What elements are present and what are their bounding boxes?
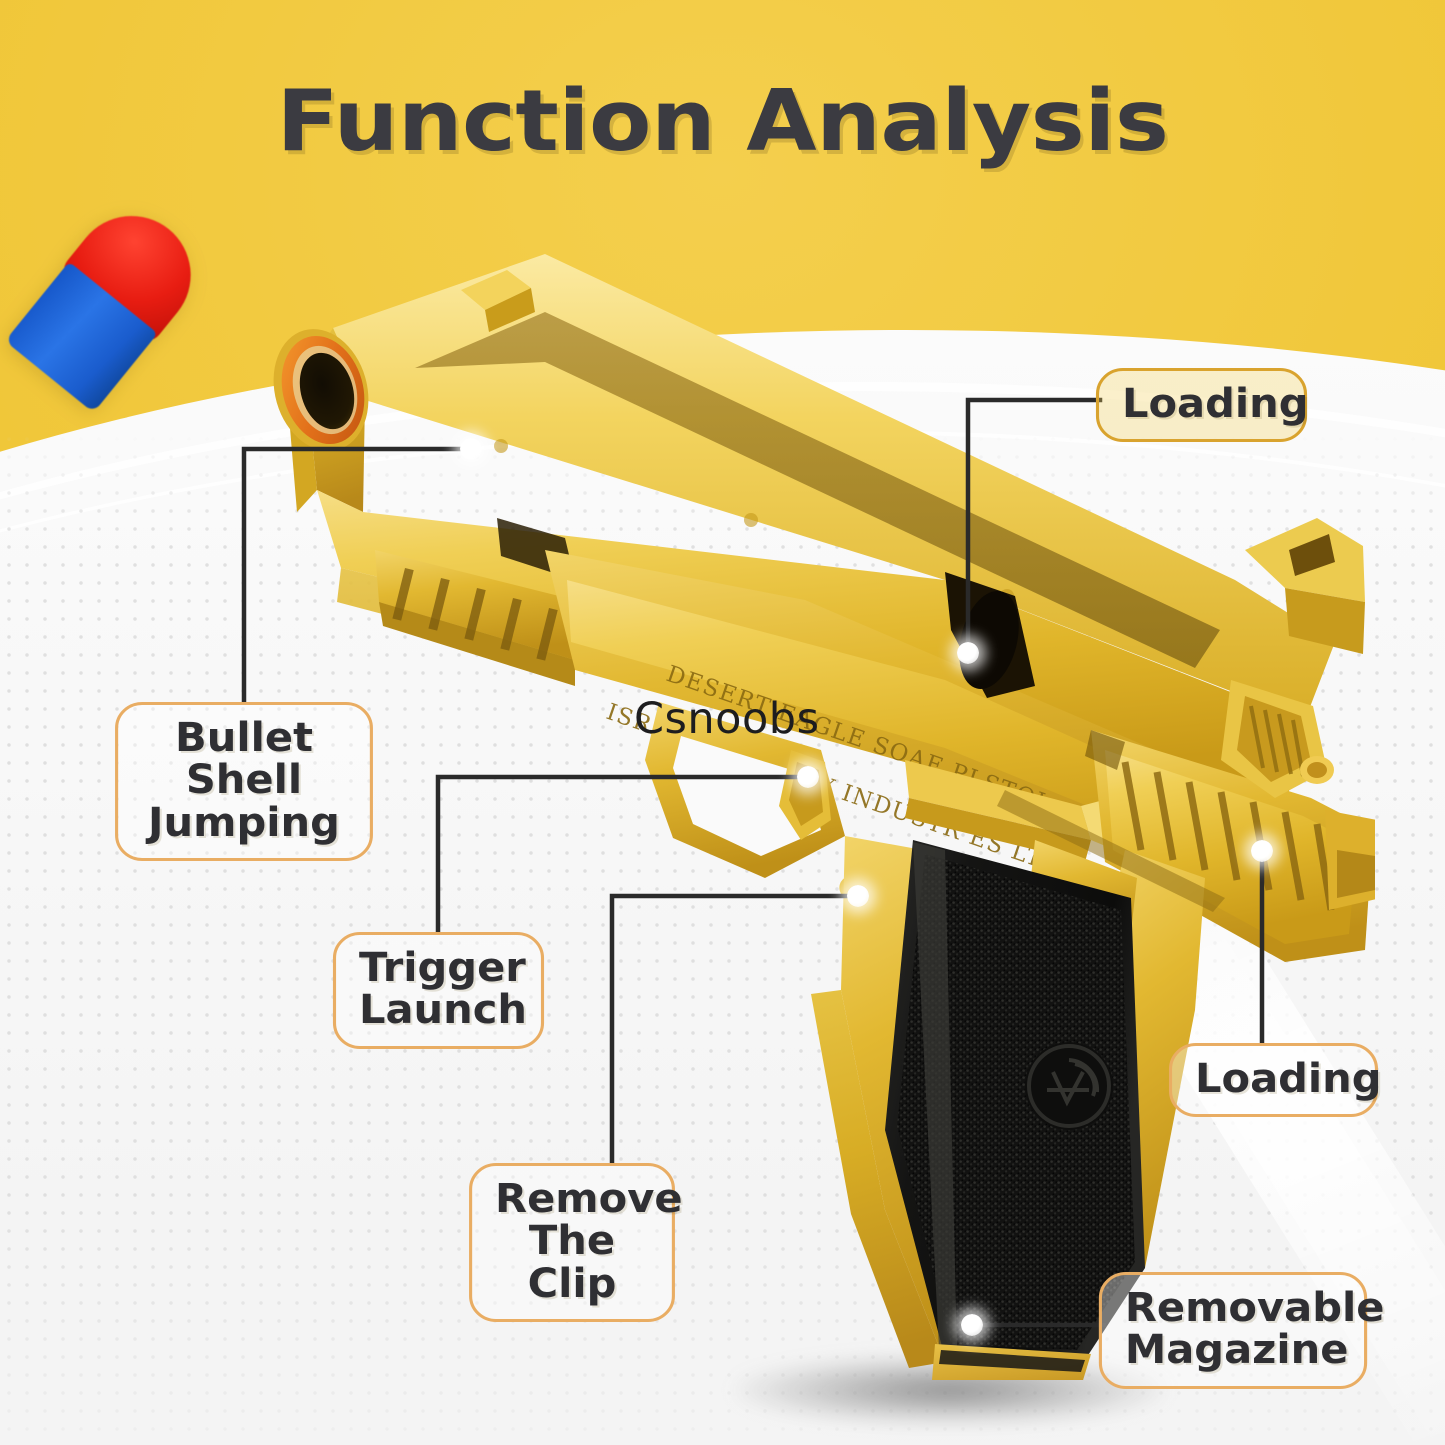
callout-label-removable-magazine[interactable]: Removable Magazine <box>1099 1272 1367 1389</box>
marker-dot-loading-top <box>957 642 979 664</box>
leader-bullet-shell-jumping <box>244 449 462 702</box>
leader-remove-the-clip <box>612 896 848 1163</box>
marker-dot-removable-magazine <box>961 1314 983 1336</box>
callout-label-bullet-shell-jumping[interactable]: Bullet Shell Jumping <box>115 702 373 861</box>
leader-loading-top <box>968 400 1100 642</box>
callout-label-loading-right[interactable]: Loading <box>1169 1043 1378 1117</box>
callout-label-remove-the-clip[interactable]: Remove The Clip <box>469 1163 675 1322</box>
callout-label-trigger-launch[interactable]: Trigger Launch <box>333 932 544 1049</box>
leader-trigger-launch <box>438 777 798 932</box>
marker-dot-bullet-shell <box>460 438 482 460</box>
marker-dot-trigger-launch <box>797 766 819 788</box>
marker-dot-remove-the-clip <box>847 885 869 907</box>
infographic-canvas: Function Analysis <box>0 0 1445 1445</box>
marker-dot-loading-right <box>1251 840 1273 862</box>
callout-label-loading-top[interactable]: Loading <box>1096 368 1307 442</box>
